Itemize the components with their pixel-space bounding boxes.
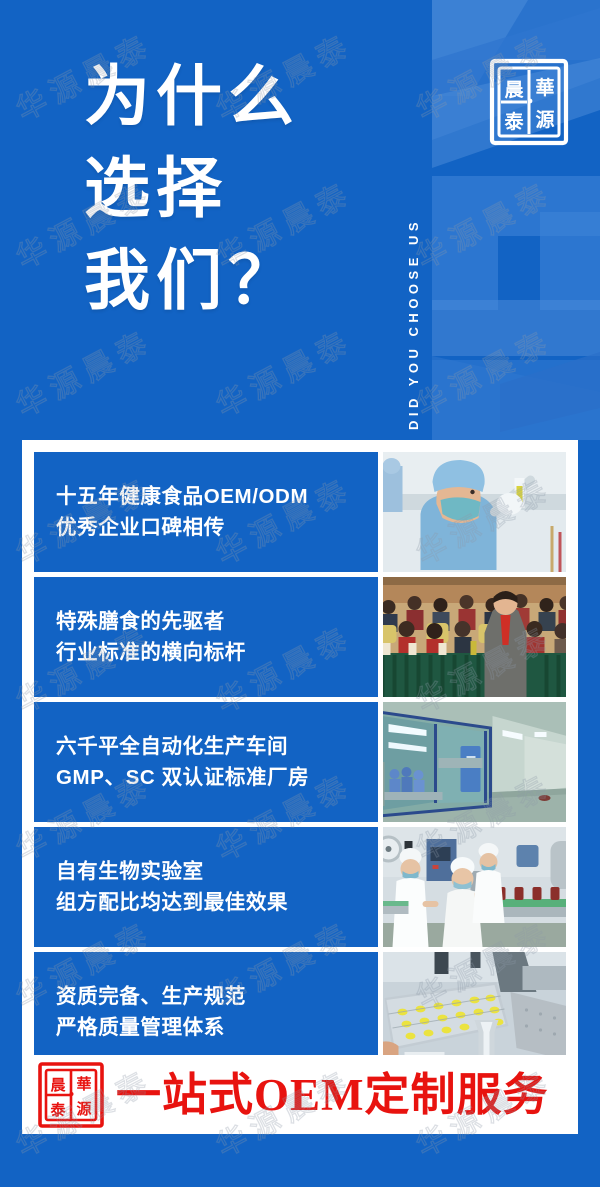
production-line-workers-illustration <box>383 827 566 947</box>
feature-card-text: 自有生物实验室 组方配比均达到最佳效果 <box>34 827 378 947</box>
svg-text:華: 華 <box>535 76 554 99</box>
feature-line: 组方配比均达到最佳效果 <box>56 887 378 918</box>
svg-text:泰: 泰 <box>49 1101 66 1119</box>
feature-card: 六千平全自动化生产车间 GMP、SC 双认证标准厂房 <box>34 702 566 822</box>
poster-header: 为什么 选择 我们？ DID YOU CHOOSE US 晨 華 泰 源 <box>0 0 600 440</box>
feature-line: 六千平全自动化生产车间 <box>56 731 378 762</box>
title-line-1: 为什么 <box>84 52 384 144</box>
feature-card: 资质完备、生产规范 严格质量管理体系 <box>34 952 566 1072</box>
feature-line: 资质完备、生产规范 <box>56 981 378 1012</box>
lab-technician-illustration <box>383 452 566 572</box>
title-line-2: 选择 <box>84 144 384 236</box>
svg-text:源: 源 <box>535 108 554 131</box>
lab-technician-photo <box>383 452 566 572</box>
bottom-cta-banner: 晨 華 泰 源 一站式OEM定制服务 <box>22 1055 578 1134</box>
feature-line: 特殊膳食的先驱者 <box>56 606 378 637</box>
features-panel: 十五年健康食品OEM/ODM 优秀企业口碑相传 <box>22 440 578 1134</box>
svg-text:晨: 晨 <box>50 1076 66 1094</box>
svg-text:泰: 泰 <box>503 110 524 133</box>
feature-line: 自有生物实验室 <box>56 856 378 887</box>
feature-card: 特殊膳食的先驱者 行业标准的横向标杆 <box>34 577 566 697</box>
feature-card-text: 资质完备、生产规范 严格质量管理体系 <box>34 952 378 1072</box>
hua-yuan-chen-tai-seal-icon: 晨 華 泰 源 <box>487 56 571 148</box>
cleanroom-corridor-illustration <box>383 702 566 822</box>
feature-card-text: 特殊膳食的先驱者 行业标准的横向标杆 <box>34 577 378 697</box>
title-line-3: 我们？ <box>84 236 384 328</box>
page-title: 为什么 选择 我们？ <box>84 52 384 328</box>
conference-audience-illustration <box>383 577 566 697</box>
seal-red-svg: 晨 華 泰 源 <box>36 1060 106 1130</box>
conference-audience-photo <box>383 577 566 697</box>
feature-line: 十五年健康食品OEM/ODM <box>56 481 378 512</box>
feature-card: 十五年健康食品OEM/ODM 优秀企业口碑相传 <box>34 452 566 572</box>
feature-line: 优秀企业口碑相传 <box>56 512 378 543</box>
feature-line: 严格质量管理体系 <box>56 1012 378 1043</box>
blister-packaging-illustration <box>383 952 566 1072</box>
production-line-workers-photo <box>383 827 566 947</box>
seal-white-svg: 晨 華 泰 源 <box>487 56 571 148</box>
cleanroom-corridor-photo <box>383 702 566 822</box>
blister-packaging-machine-photo <box>383 952 566 1072</box>
feature-card: 自有生物实验室 组方配比均达到最佳效果 <box>34 827 566 947</box>
feature-line: 行业标准的横向标杆 <box>56 637 378 668</box>
feature-line: GMP、SC 双认证标准厂房 <box>56 762 378 793</box>
svg-text:源: 源 <box>76 1100 91 1118</box>
vertical-english-tagline: DID YOU CHOOSE US <box>406 10 432 430</box>
cta-text: 一站式OEM定制服务 <box>116 1070 549 1120</box>
hua-yuan-chen-tai-seal-red-icon: 晨 華 泰 源 <box>36 1060 106 1130</box>
feature-card-text: 六千平全自动化生产车间 GMP、SC 双认证标准厂房 <box>34 702 378 822</box>
svg-text:華: 華 <box>76 1075 91 1093</box>
svg-text:晨: 晨 <box>504 79 524 101</box>
feature-card-text: 十五年健康食品OEM/ODM 优秀企业口碑相传 <box>34 452 378 572</box>
poster-root: 为什么 选择 我们？ DID YOU CHOOSE US 晨 華 泰 源 <box>0 0 600 1187</box>
